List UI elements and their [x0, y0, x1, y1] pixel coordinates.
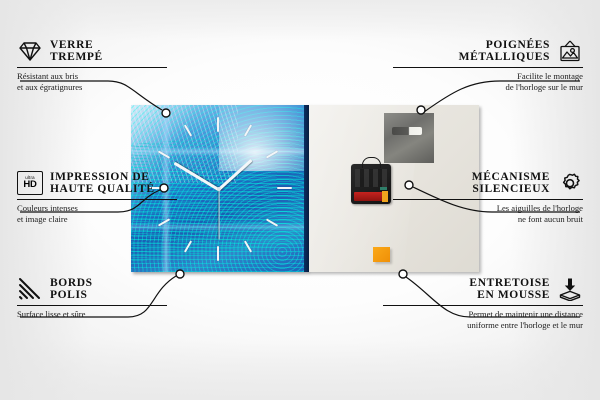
- aa-battery: [354, 192, 388, 201]
- clock-tick: [217, 117, 219, 132]
- feature-bords-polis: BORDSPOLIS Surface lisse et sûre: [17, 276, 207, 320]
- diamond-icon: [17, 38, 43, 64]
- feature-mecanisme-silencieux: MÉCANISMESILENCIEUX Les aiguilles de l'h…: [393, 170, 583, 224]
- foam-spacer-icon: [557, 276, 583, 302]
- feature-impression-haute-qualite: ultra HD IMPRESSION DEHAUTE QUALITÉ Coul…: [17, 170, 207, 224]
- feature-subtitle: Les aiguilles de l'horlogene font aucun …: [393, 203, 583, 224]
- feature-divider: [17, 67, 167, 68]
- feature-header: MÉCANISMESILENCIEUX: [393, 170, 583, 196]
- infographic-canvas: VERRETREMPÉ Résistant aux briset aux égr…: [0, 0, 600, 400]
- feature-divider: [17, 199, 177, 200]
- polished-edge-icon: [17, 276, 43, 302]
- mechanism-hanging-loop: [362, 157, 381, 168]
- feature-header: ENTRETOISEEN MOUSSE: [383, 276, 583, 302]
- feature-title: MÉCANISMESILENCIEUX: [472, 171, 550, 196]
- wall-hanging-frame-icon: [557, 38, 583, 64]
- feature-title: BORDSPOLIS: [50, 277, 93, 302]
- feature-title: ENTRETOISEEN MOUSSE: [469, 277, 550, 302]
- feature-header: BORDSPOLIS: [17, 276, 207, 302]
- quartz-mechanism: [351, 164, 391, 204]
- feature-title: IMPRESSION DEHAUTE QUALITÉ: [50, 171, 155, 196]
- feature-poignees-metalliques: POIGNÉESMÉTALLIQUES Facilite le montaged…: [393, 38, 583, 92]
- glass-glare: [219, 105, 309, 171]
- clock-hand-hub: [217, 187, 221, 191]
- battery-positive-cap: [382, 191, 388, 202]
- feature-title: VERRETREMPÉ: [50, 39, 103, 64]
- feature-divider: [393, 67, 583, 68]
- feature-divider: [383, 305, 583, 306]
- feature-divider: [393, 199, 583, 200]
- clock-tick: [217, 246, 219, 261]
- clock-tick: [277, 187, 292, 189]
- foam-spacer: [373, 247, 390, 262]
- feature-header: VERRETREMPÉ: [17, 38, 207, 64]
- feature-subtitle: Facilite le montagede l'horloge sur le m…: [393, 71, 583, 92]
- feature-subtitle: Permet de maintenir une distanceuniforme…: [383, 309, 583, 330]
- mechanism-housing-detail: [355, 169, 387, 187]
- feature-subtitle: Résistant aux briset aux égratignures: [17, 71, 207, 92]
- mechanism-label: [380, 187, 387, 190]
- feature-header: ultra HD IMPRESSION DEHAUTE QUALITÉ: [17, 170, 207, 196]
- hanger-slot: [392, 127, 422, 135]
- feature-title: POIGNÉESMÉTALLIQUES: [459, 39, 550, 64]
- feature-header: POIGNÉESMÉTALLIQUES: [393, 38, 583, 64]
- feature-divider: [17, 305, 167, 306]
- feature-subtitle: Surface lisse et sûre: [17, 309, 207, 319]
- ultra-hd-icon: ultra HD: [17, 170, 43, 196]
- gear-icon: [557, 170, 583, 196]
- clock-second-hand: [218, 190, 219, 240]
- ultra-hd-icon-bottom-label: HD: [23, 180, 36, 190]
- feature-verre-trempe: VERRETREMPÉ Résistant aux briset aux égr…: [17, 38, 207, 92]
- feature-entretoise-en-mousse: ENTRETOISEEN MOUSSE Permet de maintenir …: [383, 276, 583, 330]
- feature-subtitle: Couleurs intenseset image claire: [17, 203, 207, 224]
- metal-hanger-plate: [384, 113, 434, 163]
